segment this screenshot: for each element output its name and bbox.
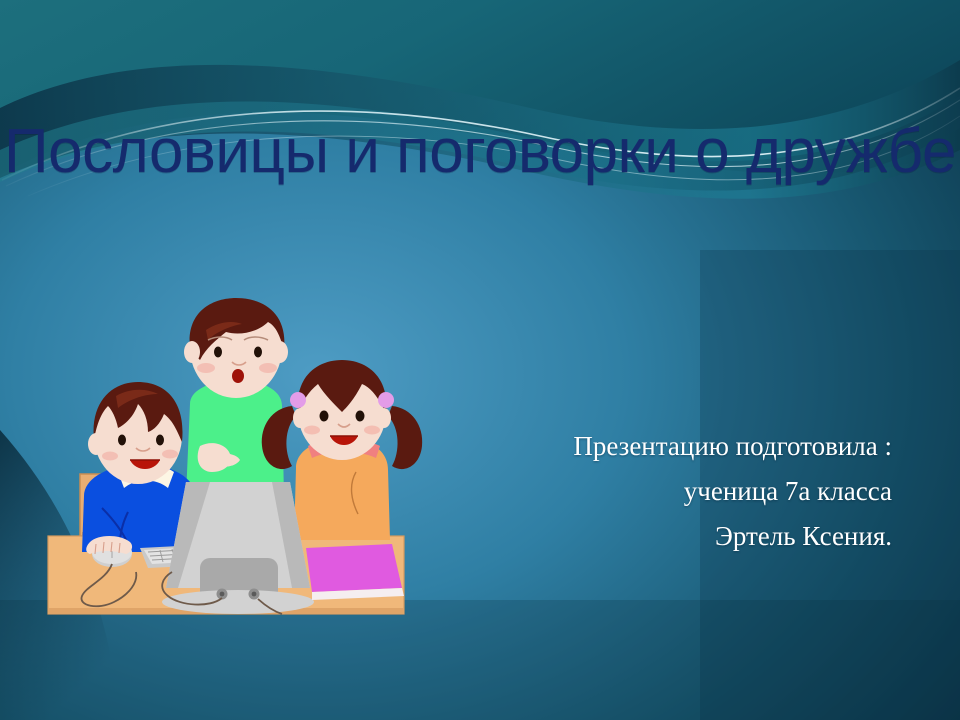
child-middle-green bbox=[184, 298, 288, 496]
slide-title: Пословицы и поговорки о дружбе bbox=[0, 116, 960, 188]
hairtie-right bbox=[378, 392, 394, 408]
eye-left-girl bbox=[320, 411, 329, 422]
cheek-left-middle bbox=[197, 363, 215, 373]
subtitle-block: Презентацию подготовила : ученица 7а кла… bbox=[372, 424, 892, 559]
ear-left-middle bbox=[184, 341, 200, 363]
mouth-middle bbox=[232, 369, 244, 383]
eye-left-boy bbox=[118, 435, 126, 446]
eye-right-girl bbox=[356, 411, 365, 422]
eye-right-boy bbox=[156, 435, 164, 446]
cheek-left-boy bbox=[102, 452, 118, 461]
subtitle-line-1: Презентацию подготовила : bbox=[372, 424, 892, 469]
monitor-foot bbox=[162, 590, 314, 614]
cheek-right-middle bbox=[259, 363, 277, 373]
hairtie-left bbox=[290, 392, 306, 408]
presentation-slide: Пословицы и поговорки о дружбе bbox=[0, 0, 960, 720]
ear-left-girl bbox=[293, 408, 307, 428]
computer-monitor bbox=[162, 482, 314, 614]
eye-right-middle bbox=[254, 347, 262, 358]
subtitle-line-2: ученица 7а класса bbox=[372, 469, 892, 514]
ear-left-boy bbox=[88, 433, 104, 455]
cheek-right-boy bbox=[162, 450, 178, 459]
eye-left-middle bbox=[214, 347, 222, 358]
ear-right-middle bbox=[272, 341, 288, 363]
subtitle-line-3: Эртель Ксения. bbox=[372, 514, 892, 559]
cheek-left-girl bbox=[304, 426, 320, 435]
